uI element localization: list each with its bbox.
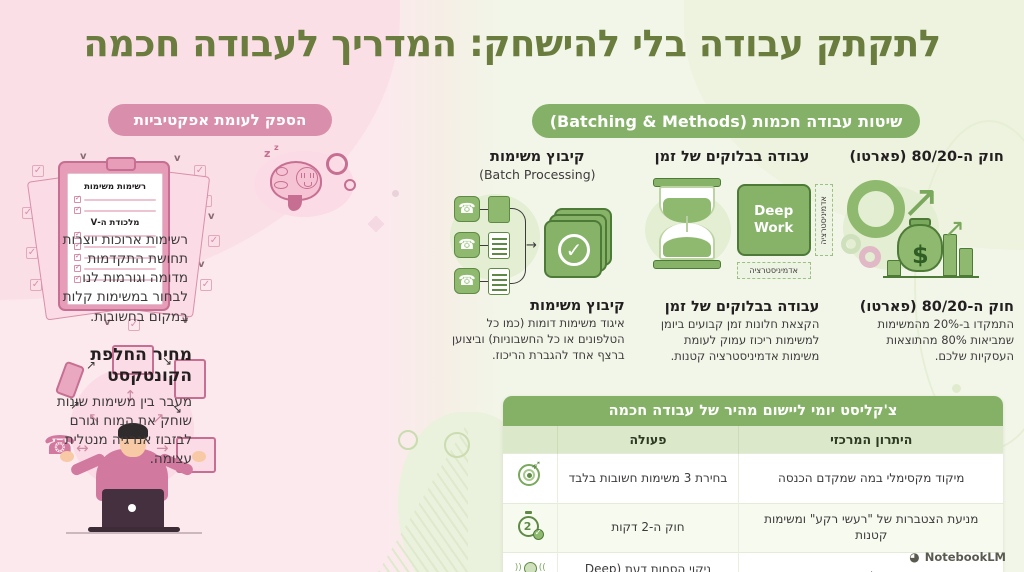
section-badge-methods: שיטות עבודה חכמות (Batching & Methods) [532,104,920,138]
cell-icon: 2 ✓ [503,503,557,553]
cell-icon: (( )) [503,553,557,572]
document-icon [488,196,510,223]
clipboard-list-title: רשימות משימות [74,182,156,192]
clipboard-row [74,196,156,203]
card-body-time-blocking: הקצאת חלונות זמן קבועים ביומן למשימות רי… [645,317,820,365]
hourglass-deepwork-icon: Deep Work אדמיניסטרציה אדמיניסטרציה [645,172,820,297]
v-mark: v [208,211,215,222]
table-row: מיקוד מקסימלי במה שמקדם הכנסה בחירת 3 מש… [503,454,1003,504]
admin-block-bottom: אדמיניסטרציה [737,262,811,279]
clipboard-row [74,207,156,214]
methods-cards-row: חוק ה-80/20 (פארטו) ↗ ↗ $ חוק ה-80/20 (פ… [440,148,1024,388]
checkbox-icon: ✓ [32,165,44,177]
left-body-task-lists: רשימות ארוכות יוצרות תחושת התקדמות מדומה… [53,231,188,327]
method-card-batching: קיבוץ משימות (Batch Processing) ☎ ☎ ☎ → … [440,148,635,388]
gear-icon [344,179,356,191]
grouping-brace [510,208,526,284]
hourglass-cap [653,260,721,269]
brain-fold [274,181,288,189]
column-header-icon [503,426,557,454]
admin-label-bottom: אדמיניסטרציה [749,266,798,275]
batch-processing-icon: ☎ ☎ ☎ → ✓ [450,186,625,296]
cell-benefit: מניעת הצטברות של "רעשי רקע" ומשימות קטנו… [739,503,1003,553]
sand-stream [686,216,688,232]
clipboard-trap-title: מלכודת ה-V [74,218,156,228]
bar-icon [959,248,973,276]
checkbox-checked-icon [74,207,81,214]
card-body-pareto: התמקדו ב-20% מהמשימות שמביאות 80% מהתוצא… [839,317,1014,365]
checklist-title: צ'קליסט יומי ליישום מהיר של עבודה חכמה [503,396,1003,426]
headset-focus-icon: (( )) [515,560,545,572]
sand-bottom [663,237,711,257]
cell-icon: ➶ [503,454,557,504]
checkbox-icon: ✓ [208,235,220,247]
zzz-icon: z [264,147,270,160]
checkbox-icon: ✓ [200,279,212,291]
document-icon [488,232,510,259]
gear-icon [326,153,348,175]
footer-branding: ◕ NotebookLM [909,550,1006,564]
admin-block-side: אדמיניסטרציה [815,184,833,256]
left-heading-context-switching: מחיר החלפת הקונטקסט [52,345,192,388]
connector-line [480,281,488,282]
cell-action: חוק ה-2 דקות [557,503,739,553]
mouth-icon [304,182,312,187]
tired-brain-icon: z z [252,145,362,223]
document-icon [488,268,510,295]
deep-work-block: Deep Work [737,184,811,256]
cell-benefit: מיקוד מקסימלי במה שמקדם הכנסה [739,454,1003,504]
left-column: v v v v v v v v ✓ ✓ ✓ ✓ ✓ ✓ ✓ ✓ ✓ רשימות… [0,145,440,565]
checkbox-checked-icon [74,196,81,203]
batch-stack-front: ✓ [544,220,602,278]
deep-work-label: Deep Work [739,203,809,237]
page-title: לתקתק עבודה בלי להישחק: המדריך לעבודה חכ… [0,22,1024,66]
card-heading-batching: קיבוץ משימות [450,298,625,314]
hourglass-body [659,186,715,260]
stopwatch-2-icon: 2 ✓ [515,511,545,541]
card-subtitle-batching: (Batch Processing) [450,167,625,182]
check-circle-icon: ✓ [558,234,590,266]
left-body-context-switching: מעבר בין משימות שונות שוחק את המוח וגורם… [52,393,192,470]
table-header-row: היתרון המרכזי פעולה [503,426,1003,454]
method-card-time-blocking: עבודה בבלוקים של זמן Deep Work אדמיניסטר… [635,148,830,388]
phone-icon: ☎ [454,196,480,222]
clipboard-clip [106,157,136,171]
flow-arrow-icon: → [526,238,537,253]
left-block-context-switching: ☎ ↗ ↘ ↗ ↘ ↕ ↖ ↗ ↔ → מחיר החלפת הקונטקסט … [0,337,440,557]
daily-checklist-panel: צ'קליסט יומי ליישום מהיר של עבודה חכמה ה… [503,396,1003,572]
notebooklm-logo-icon: ◕ [909,550,919,564]
growth-arrow-icon: ↗ [943,216,965,242]
section-badge-productivity: הספק לעומת אפקטיביות [108,104,332,136]
baseline [883,276,979,278]
gear-growth-money-icon: ↗ ↗ $ [839,172,1014,297]
method-card-pareto: חוק ה-80/20 (פארטו) ↗ ↗ $ חוק ה-80/20 (פ… [829,148,1024,388]
phone-icon: ☎ [454,232,480,258]
column-header-action: פעולה [557,426,739,454]
connector-line [480,245,488,246]
money-bag-icon: $ [897,224,943,272]
v-mark: v [174,153,181,164]
laptop-icon [102,489,164,527]
card-heading-time-blocking: עבודה בבלוקים של זמן [645,299,820,315]
phone-icon: ☎ [454,268,480,294]
eye-icon [310,173,314,178]
card-title-time-blocking: עבודה בבלוקים של זמן [645,148,820,166]
card-body-batching: איגוד משימות דומות (כמו כל הטלפונים או כ… [450,316,625,364]
card-title-batching: קיבוץ משימות [450,148,625,166]
brain-face [296,167,318,189]
card-title-pareto: חוק ה-80/20 (פארטו) [839,148,1014,166]
left-text-task-lists: רשימות ארוכות יוצרות תחושת התקדמות מדומה… [53,231,188,327]
footer-brand-label: NotebookLM [925,550,1006,564]
zzz-icon: z [274,143,279,152]
desk-line [66,532,202,534]
cell-action: ניקוי הסחות דעת (Deep Work) [557,553,739,572]
eye-icon [301,173,305,178]
connector-line [480,209,488,210]
brain-fold [276,167,288,176]
admin-label-side: אדמיניסטרציה [819,196,828,245]
person-hand [192,451,206,462]
table-row: מניעת הצטברות של "רעשי רקע" ומשימות קטנו… [503,503,1003,553]
column-header-benefit: היתרון המרכזי [739,426,1003,454]
left-block-task-lists: v v v v v v v v ✓ ✓ ✓ ✓ ✓ ✓ ✓ ✓ ✓ רשימות… [0,145,440,330]
target-dart-icon: ➶ [515,461,545,491]
cell-action: בחירת 3 משימות חשובות בלבד [557,454,739,504]
card-heading-pareto: חוק ה-80/20 (פארטו) [839,299,1014,315]
left-text-context-switching: מחיר החלפת הקונטקסט מעבר בין משימות שונו… [52,345,192,469]
